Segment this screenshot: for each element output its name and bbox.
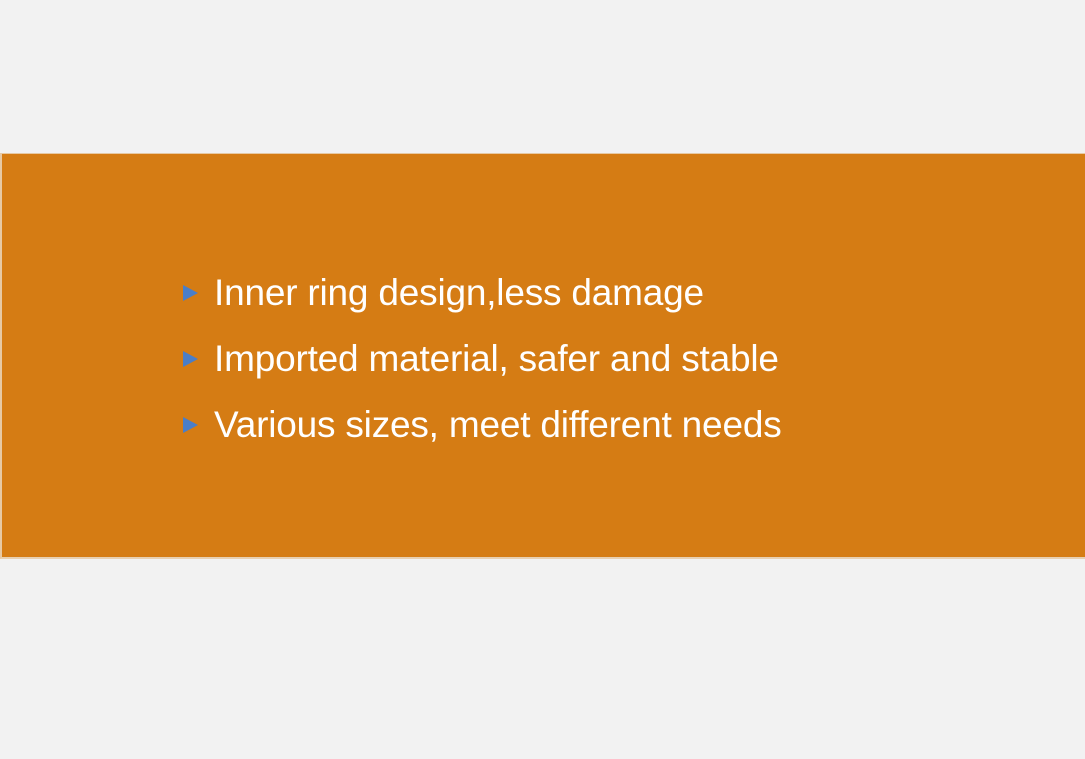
bullet-text: Inner ring design,less damage — [214, 274, 704, 311]
list-item: Inner ring design,less damage — [180, 259, 1040, 325]
feature-highlight-panel: Inner ring design,less damage Imported m… — [0, 153, 1085, 559]
triangle-right-icon — [180, 349, 200, 369]
feature-bullet-list: Inner ring design,less damage Imported m… — [180, 259, 1040, 457]
bullet-text: Imported material, safer and stable — [214, 340, 779, 377]
triangle-right-icon — [180, 283, 200, 303]
bullet-text: Various sizes, meet different needs — [214, 406, 782, 443]
list-item: Imported material, safer and stable — [180, 325, 1040, 391]
triangle-right-icon — [180, 415, 200, 435]
slide-canvas: Inner ring design,less damage Imported m… — [0, 0, 1085, 759]
list-item: Various sizes, meet different needs — [180, 391, 1040, 457]
